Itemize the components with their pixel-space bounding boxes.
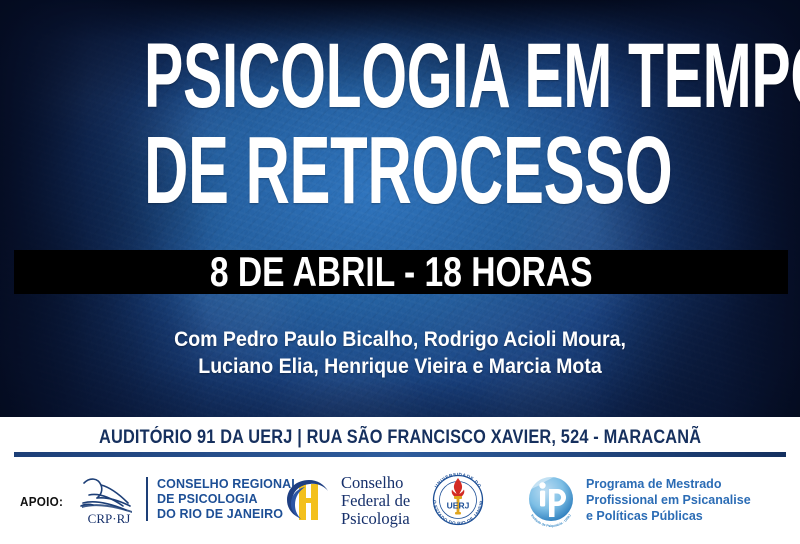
cfp-line-3: Psicologia: [341, 510, 410, 528]
crp-rj-line-2: DE PSICOLOGIA: [157, 492, 299, 507]
speakers-line-2: Luciano Elia, Henrique Vieira e Marcia M…: [28, 353, 772, 380]
logo-crp-rj: CRP·RJ CONSELHO REGIONAL DE PSICOLOGIA D…: [76, 473, 299, 525]
crp-rj-mark-text: CRP·RJ: [88, 511, 131, 525]
logo-conselho-federal-psicologia: Conselho Federal de Psicologia: [283, 474, 410, 528]
date-text: 8 DE ABRIL - 18 HORAS: [210, 251, 593, 293]
crp-rj-divider: [146, 477, 148, 521]
cfp-line-1: Conselho: [341, 474, 410, 492]
cfp-wordmark: Conselho Federal de Psicologia: [341, 474, 410, 528]
logo-uerj: UNIVERSIDADE DO DO ESTADO DO RIO DE JANE…: [425, 467, 491, 533]
programa-mestrado-line-1: Programa de Mestrado: [586, 476, 751, 492]
poster-title: PSICOLOGIA EM TEMPOS DE RETROCESSO: [0, 34, 800, 215]
crp-rj-book-bird-icon: CRP·RJ: [76, 473, 142, 525]
support-label: APOIO:: [20, 494, 63, 509]
cfp-pillar-swoosh-icon: [283, 476, 335, 526]
event-poster: PSICOLOGIA EM TEMPOS DE RETROCESSO 8 DE …: [0, 0, 800, 544]
speakers-line-1: Com Pedro Paulo Bicalho, Rodrigo Acioli …: [28, 326, 772, 353]
uerj-seal-center-text: UERJ: [447, 501, 470, 511]
programa-mestrado-wordmark: Programa de Mestrado Profissional em Psi…: [586, 476, 751, 524]
venue-rule: [14, 452, 786, 457]
crp-rj-line-1: CONSELHO REGIONAL: [157, 477, 299, 492]
title-line-2: DE RETROCESSO: [144, 127, 656, 215]
speakers-list: Com Pedro Paulo Bicalho, Rodrigo Acioli …: [0, 326, 800, 380]
title-line-1: PSICOLOGIA EM TEMPOS: [144, 34, 656, 119]
crp-rj-wordmark: CONSELHO REGIONAL DE PSICOLOGIA DO RIO D…: [157, 477, 299, 522]
ip-monogram-icon: Instituto de Psiquiatria · UFRJ: [521, 470, 581, 530]
uerj-seal-icon: UNIVERSIDADE DO DO ESTADO DO RIO DE JANE…: [425, 467, 491, 533]
programa-mestrado-line-2: Profissional em Psicanalise: [586, 492, 751, 508]
cfp-line-2: Federal de: [341, 492, 410, 510]
crp-rj-line-3: DO RIO DE JANEIRO: [157, 507, 299, 522]
poster-footer: APOIO: CRP·RJ CONSELHO REGIONAL DE PSICO…: [0, 458, 800, 544]
logo-programa-mestrado: Instituto de Psiquiatria · UFRJ Programa…: [521, 470, 751, 530]
venue-text: AUDITÓRIO 91 DA UERJ | RUA SÃO FRANCISCO…: [99, 427, 701, 449]
programa-mestrado-line-3: e Políticas Públicas: [586, 508, 751, 524]
date-banner: 8 DE ABRIL - 18 HORAS: [14, 250, 788, 294]
